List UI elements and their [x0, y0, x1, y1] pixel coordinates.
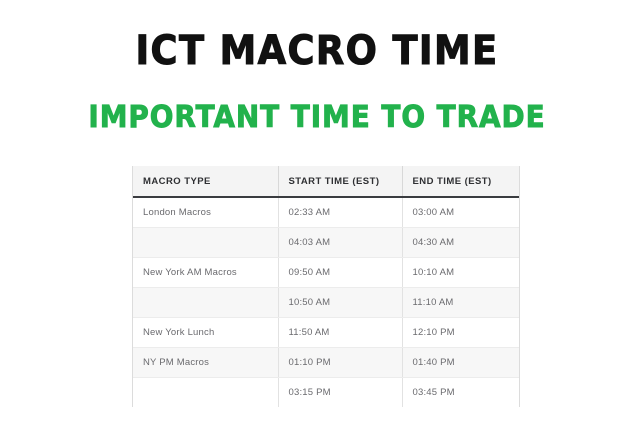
heading-block: ICT MACRO TIME IMPORTANT TIME TO TRADE — [0, 28, 634, 136]
table-header-row: MACRO TYPE START TIME (EST) END TIME (ES… — [133, 166, 519, 197]
cell-macro-type: New York AM Macros — [133, 258, 278, 288]
cell-end-time: 01:40 PM — [402, 348, 519, 378]
cell-start-time: 01:10 PM — [278, 348, 402, 378]
table-row: 03:15 PM 03:45 PM — [133, 378, 519, 408]
table-row: New York Lunch 11:50 AM 12:10 PM — [133, 318, 519, 348]
cell-start-time: 04:03 AM — [278, 228, 402, 258]
cell-end-time: 03:45 PM — [402, 378, 519, 408]
table-row: NY PM Macros 01:10 PM 01:40 PM — [133, 348, 519, 378]
table-left-edge — [132, 166, 133, 407]
cell-start-time: 09:50 AM — [278, 258, 402, 288]
cell-start-time: 03:15 PM — [278, 378, 402, 408]
column-header-macro-type: MACRO TYPE — [133, 166, 278, 197]
cell-end-time: 03:00 AM — [402, 197, 519, 228]
cell-end-time: 11:10 AM — [402, 288, 519, 318]
cell-macro-type: London Macros — [133, 197, 278, 228]
table-body: London Macros 02:33 AM 03:00 AM 04:03 AM… — [133, 197, 519, 407]
table-row: New York AM Macros 09:50 AM 10:10 AM — [133, 258, 519, 288]
cell-end-time: 10:10 AM — [402, 258, 519, 288]
cell-end-time: 04:30 AM — [402, 228, 519, 258]
column-header-start-time: START TIME (EST) — [278, 166, 402, 197]
column-header-end-time: END TIME (EST) — [402, 166, 519, 197]
macro-time-table-container: MACRO TYPE START TIME (EST) END TIME (ES… — [133, 166, 519, 407]
cell-macro-type — [133, 288, 278, 318]
cell-start-time: 11:50 AM — [278, 318, 402, 348]
macro-time-table: MACRO TYPE START TIME (EST) END TIME (ES… — [133, 166, 519, 407]
table-row: 10:50 AM 11:10 AM — [133, 288, 519, 318]
cell-macro-type — [133, 378, 278, 408]
cell-macro-type: NY PM Macros — [133, 348, 278, 378]
cell-start-time: 02:33 AM — [278, 197, 402, 228]
page-root: ICT MACRO TIME IMPORTANT TIME TO TRADE M… — [0, 0, 634, 433]
table-row: London Macros 02:33 AM 03:00 AM — [133, 197, 519, 228]
cell-macro-type: New York Lunch — [133, 318, 278, 348]
cell-start-time: 10:50 AM — [278, 288, 402, 318]
page-subtitle: IMPORTANT TIME TO TRADE — [22, 100, 612, 136]
page-title: ICT MACRO TIME — [25, 28, 608, 74]
cell-macro-type — [133, 228, 278, 258]
table-header: MACRO TYPE START TIME (EST) END TIME (ES… — [133, 166, 519, 197]
cell-end-time: 12:10 PM — [402, 318, 519, 348]
table-row: 04:03 AM 04:30 AM — [133, 228, 519, 258]
table-right-edge — [519, 166, 520, 407]
